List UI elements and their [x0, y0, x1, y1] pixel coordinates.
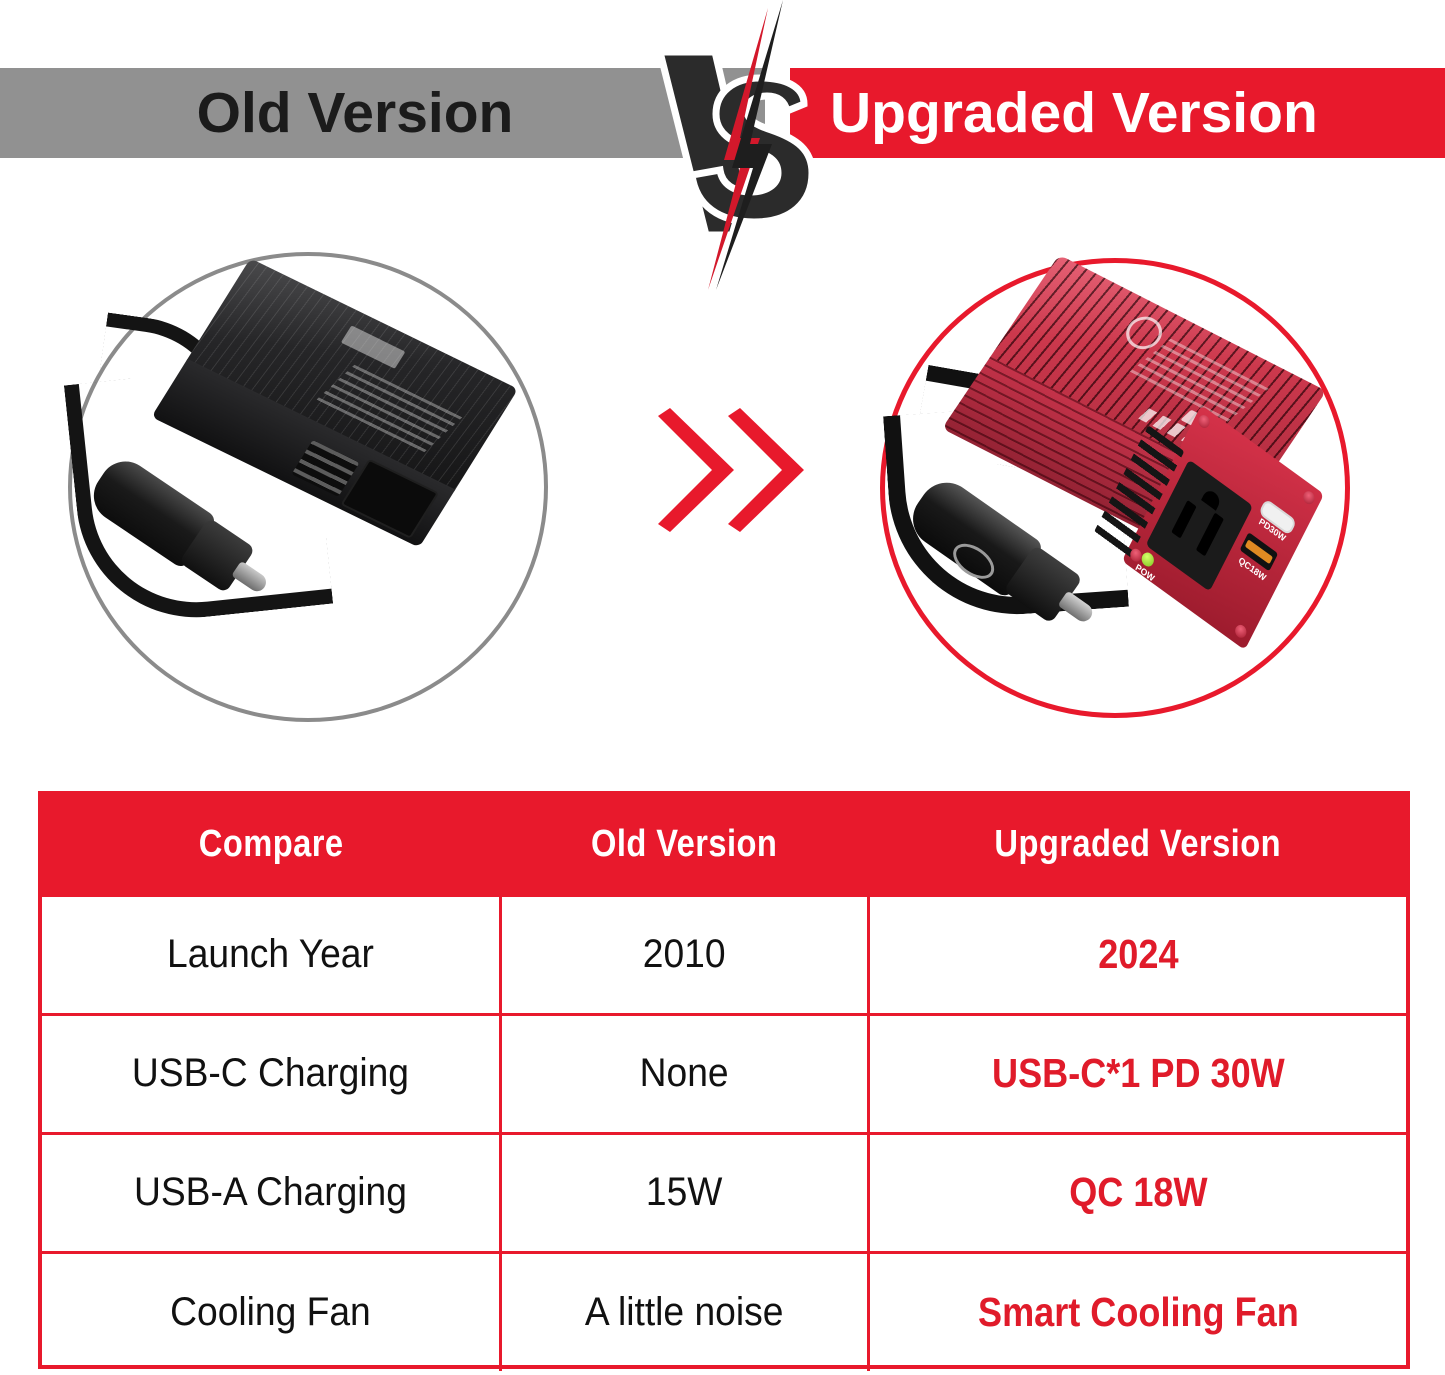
cell-compare: Launch Year	[58, 895, 484, 1014]
cell-old: None	[513, 1014, 855, 1133]
inverter-front-panel: PD30W QC18W POW	[1122, 405, 1324, 650]
table-row: USB-A Charging 15W QC 18W	[42, 1133, 1406, 1252]
table-row: Cooling Fan A little noise Smart Cooling…	[42, 1252, 1406, 1371]
cell-old: 2010	[513, 895, 855, 1014]
cell-compare: Cooling Fan	[58, 1252, 484, 1371]
table-header-row: Compare Old Version Upgraded Version	[42, 795, 1406, 895]
double-chevron-right-icon	[650, 408, 820, 533]
product-old-version	[68, 252, 548, 722]
cell-upgraded: QC 18W	[901, 1133, 1374, 1252]
column-header-old: Old Version	[526, 795, 843, 895]
old-inverter-illustration	[68, 252, 548, 722]
table-row: USB-C Charging None USB-C*1 PD 30W	[42, 1014, 1406, 1133]
column-header-upgraded: Upgraded Version	[906, 795, 1368, 895]
cell-upgraded: Smart Cooling Fan	[901, 1252, 1374, 1371]
cell-compare: USB-C Charging	[58, 1014, 484, 1133]
cell-upgraded: USB-C*1 PD 30W	[901, 1014, 1374, 1133]
table-row: Launch Year 2010 2024	[42, 895, 1406, 1014]
cell-old: 15W	[513, 1133, 855, 1252]
banner-old-version-label: Old Version	[0, 68, 710, 158]
banner-upgraded-version: Upgraded Version	[790, 68, 1445, 158]
banner-old-version: Old Version	[0, 68, 765, 158]
product-upgraded-version: PD30W QC18W POW	[880, 258, 1350, 718]
cell-compare: USB-A Charging	[58, 1133, 484, 1252]
red-inverter-illustration: PD30W QC18W POW	[880, 258, 1350, 718]
banner-upgraded-version-label: Upgraded Version	[830, 68, 1437, 158]
cell-old: A little noise	[513, 1252, 855, 1371]
column-header-compare: Compare	[74, 795, 468, 895]
comparison-table: Compare Old Version Upgraded Version Lau…	[38, 791, 1410, 1369]
cell-upgraded: 2024	[901, 895, 1374, 1014]
